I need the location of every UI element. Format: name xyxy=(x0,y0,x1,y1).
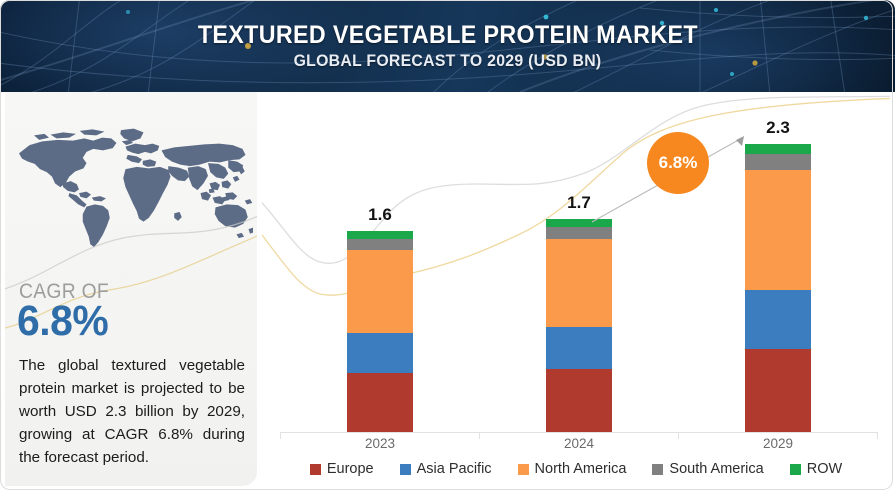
market-description: The global textured vegetable protein ma… xyxy=(19,354,245,469)
legend-swatch-icon xyxy=(652,464,663,475)
content-area: CAGR OF 6.8% The global textured vegetab… xyxy=(0,92,895,492)
legend-label: ROW xyxy=(807,461,842,477)
legend-item-north-america[interactable]: North America xyxy=(518,461,627,477)
header-banner: TEXTURED VEGETABLE PROTEIN MARKET GLOBAL… xyxy=(0,0,895,92)
callout-pointer xyxy=(262,92,890,452)
infographic-page: TEXTURED VEGETABLE PROTEIN MARKET GLOBAL… xyxy=(0,0,895,492)
world-map-icon xyxy=(13,114,253,264)
left-summary-panel: CAGR OF 6.8% The global textured vegetab… xyxy=(5,92,257,486)
page-subtitle: GLOBAL FORECAST TO 2029 (USD BN) xyxy=(294,51,602,70)
legend-label: Asia Pacific xyxy=(417,461,492,477)
chart-legend: EuropeAsia PacificNorth AmericaSouth Ame… xyxy=(262,452,890,486)
legend-item-row[interactable]: ROW xyxy=(790,461,842,477)
legend-swatch-icon xyxy=(310,464,321,475)
stacked-bar-chart: 1.6 1.7 2.3 2023 2024 2029 6.8% xyxy=(262,92,890,486)
cagr-callout-bubble[interactable]: 6.8% xyxy=(647,132,709,194)
page-title: TEXTURED VEGETABLE PROTEIN MARKET xyxy=(197,21,697,49)
legend-item-asia-pacific[interactable]: Asia Pacific xyxy=(400,461,492,477)
legend-item-south-america[interactable]: South America xyxy=(652,461,763,477)
legend-label: Europe xyxy=(327,461,374,477)
legend-swatch-icon xyxy=(400,464,411,475)
cagr-value: 6.8% xyxy=(17,300,108,343)
legend-swatch-icon xyxy=(790,464,801,475)
legend-label: North America xyxy=(535,461,627,477)
legend-swatch-icon xyxy=(518,464,529,475)
legend-label: South America xyxy=(669,461,763,477)
legend-item-europe[interactable]: Europe xyxy=(310,461,374,477)
